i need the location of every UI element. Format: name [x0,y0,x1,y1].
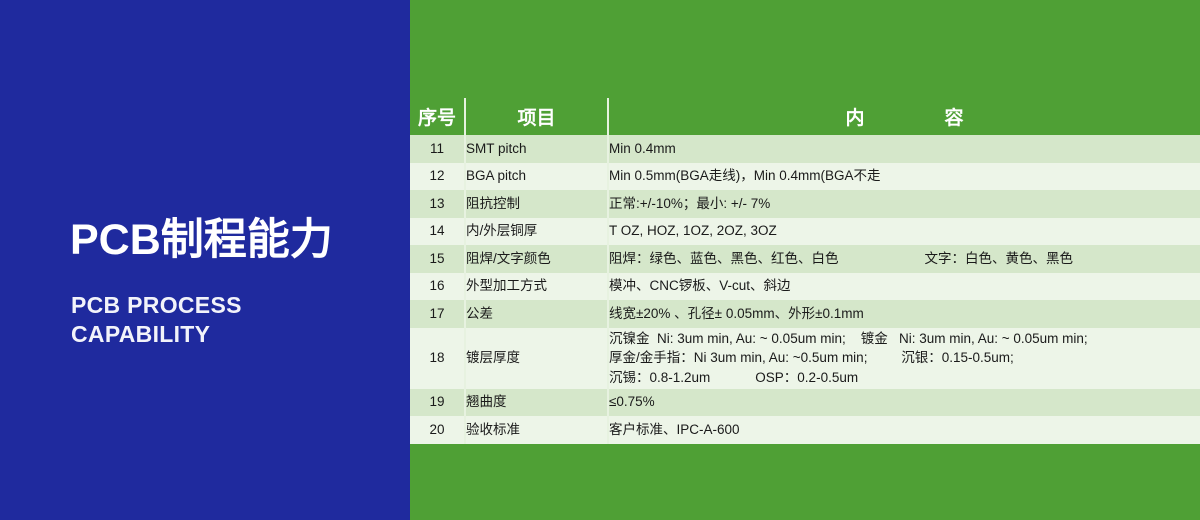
content-line: 客户标准、IPC-A-600 [609,420,1200,440]
cell-content: 正常:+/-10%；最小: +/- 7% [608,190,1200,218]
cell-item: 验收标准 [465,416,608,444]
cell-content: Min 0.4mm [608,135,1200,163]
cell-content: 线宽±20% 、孔径± 0.05mm、外形±0.1mm [608,300,1200,328]
content-line: 线宽±20% 、孔径± 0.05mm、外形±0.1mm [609,304,1200,324]
column-header-no: 序号 [410,98,465,135]
table-row: 12 BGA pitch Min 0.5mm(BGA走线)，Min 0.4mm(… [410,163,1200,191]
cell-content: 沉镍金 Ni: 3um min, Au: ~ 0.05um min; 镀金 Ni… [608,328,1200,389]
cell-no: 20 [410,416,465,444]
content-line: Min 0.5mm(BGA走线)，Min 0.4mm(BGA不走 [609,166,1200,186]
table-header-row: 序号 项目 内 容 [410,98,1200,135]
table-row: 19 翘曲度 ≤0.75% [410,389,1200,417]
cell-item: 内/外层铜厚 [465,218,608,246]
content-line: 阻焊：绿色、蓝色、黑色、红色、白色 [609,249,839,269]
cell-no: 16 [410,273,465,301]
cell-no: 18 [410,328,465,389]
spec-table-wrapper: 序号 项目 内 容 11 SMT pitch Min 0.4mm 12 [410,98,1200,444]
cell-content: ≤0.75% [608,389,1200,417]
table-row: 18 镀层厚度 沉镍金 Ni: 3um min, Au: ~ 0.05um mi… [410,328,1200,389]
page-subtitle-line-1: PCB PROCESS [71,291,242,320]
cell-no: 15 [410,245,465,273]
cell-item: 外型加工方式 [465,273,608,301]
table-row: 17 公差 线宽±20% 、孔径± 0.05mm、外形±0.1mm [410,300,1200,328]
cell-item: 阻抗控制 [465,190,608,218]
cell-item: 镀层厚度 [465,328,608,389]
page-subtitle-line-2: CAPABILITY [71,320,242,349]
content-line: 模冲、CNC锣板、V-cut、斜边 [609,276,1200,296]
cell-no: 13 [410,190,465,218]
table-row: 16 外型加工方式 模冲、CNC锣板、V-cut、斜边 [410,273,1200,301]
column-header-content: 内 容 [608,98,1200,135]
cell-item: 公差 [465,300,608,328]
table-row: 14 内/外层铜厚 T OZ, HOZ, 1OZ, 2OZ, 3OZ [410,218,1200,246]
cell-item: SMT pitch [465,135,608,163]
page-title-chinese: PCB制程能力 [70,218,333,263]
table-row: 15 阻焊/文字颜色 阻焊：绿色、蓝色、黑色、红色、白色文字：白色、黄色、黑色 [410,245,1200,273]
pcb-capability-table: 序号 项目 内 容 11 SMT pitch Min 0.4mm 12 [410,98,1200,444]
cell-content: Min 0.5mm(BGA走线)，Min 0.4mm(BGA不走 [608,163,1200,191]
cell-item: BGA pitch [465,163,608,191]
cell-content: 客户标准、IPC-A-600 [608,416,1200,444]
content-line-secondary: 文字：白色、黄色、黑色 [925,249,1074,269]
content-line: T OZ, HOZ, 1OZ, 2OZ, 3OZ [609,221,1200,241]
right-content-panel: 序号 项目 内 容 11 SMT pitch Min 0.4mm 12 [410,0,1200,520]
table-row: 13 阻抗控制 正常:+/-10%；最小: +/- 7% [410,190,1200,218]
cell-no: 14 [410,218,465,246]
slide-canvas: PCB制程能力 PCB PROCESS CAPABILITY 序号 项目 内 容 [0,0,1200,520]
table-row: 11 SMT pitch Min 0.4mm [410,135,1200,163]
page-subtitle-english: PCB PROCESS CAPABILITY [71,291,242,350]
cell-item: 翘曲度 [465,389,608,417]
cell-no: 12 [410,163,465,191]
content-line: 沉锡：0.8-1.2um OSP：0.2-0.5um [609,368,1200,388]
content-line: Min 0.4mm [609,139,1200,159]
cell-content: 模冲、CNC锣板、V-cut、斜边 [608,273,1200,301]
cell-item: 阻焊/文字颜色 [465,245,608,273]
content-line: 沉镍金 Ni: 3um min, Au: ~ 0.05um min; 镀金 Ni… [609,329,1200,349]
table-body: 11 SMT pitch Min 0.4mm 12 BGA pitch Min … [410,135,1200,444]
cell-no: 19 [410,389,465,417]
content-line: 厚金/金手指：Ni 3um min, Au: ~0.5um min; 沉银：0.… [609,348,1200,368]
cell-content: 阻焊：绿色、蓝色、黑色、红色、白色文字：白色、黄色、黑色 [608,245,1200,273]
cell-no: 17 [410,300,465,328]
cell-no: 11 [410,135,465,163]
content-line: 正常:+/-10%；最小: +/- 7% [609,194,1200,214]
content-line: ≤0.75% [609,392,1200,412]
left-title-panel: PCB制程能力 PCB PROCESS CAPABILITY [0,0,410,520]
column-header-item: 项目 [465,98,608,135]
table-row: 20 验收标准 客户标准、IPC-A-600 [410,416,1200,444]
cell-content: T OZ, HOZ, 1OZ, 2OZ, 3OZ [608,218,1200,246]
